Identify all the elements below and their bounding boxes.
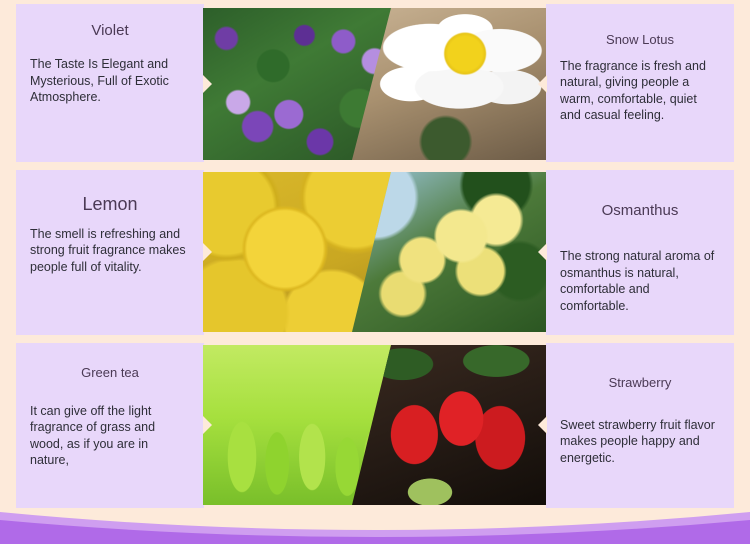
fragrance-feature-page: Violet The Taste Is Elegant and Mysterio…	[0, 0, 750, 544]
text-card-green-tea: Green tea It can give off the light frag…	[16, 343, 204, 508]
card-title: Strawberry	[560, 375, 720, 391]
card-title: Lemon	[30, 194, 190, 216]
text-card-strawberry: Strawberry Sweet strawberry fruit flavor…	[546, 343, 734, 508]
card-description: It can give off the light fragrance of g…	[30, 403, 190, 469]
curve-light-purple	[0, 512, 750, 544]
image-pair-row-3	[203, 345, 547, 505]
card-title: Osmanthus	[560, 202, 720, 220]
image-pair-row-2	[203, 172, 547, 332]
text-card-violet: Violet The Taste Is Elegant and Mysterio…	[16, 4, 204, 162]
card-description: The Taste Is Elegant and Mysterious, Ful…	[30, 56, 190, 106]
left-arrow-notch-icon	[203, 416, 212, 434]
text-card-snow-lotus: Snow Lotus The fragrance is fresh and na…	[546, 4, 734, 162]
card-description: The fragrance is fresh and natural, givi…	[560, 58, 720, 124]
card-title: Snow Lotus	[560, 32, 720, 48]
curve-purple	[0, 520, 750, 544]
feature-row-violet-snowlotus: Violet The Taste Is Elegant and Mysterio…	[0, 4, 750, 162]
right-arrow-notch-icon	[538, 416, 547, 434]
text-card-osmanthus: Osmanthus The strong natural aroma of os…	[546, 170, 734, 335]
feature-row-lemon-osmanthus: Lemon The smell is refreshing and strong…	[0, 170, 750, 335]
card-title: Violet	[30, 22, 190, 40]
image-pair-row-1	[203, 8, 547, 160]
text-card-lemon: Lemon The smell is refreshing and strong…	[16, 170, 204, 335]
right-arrow-notch-icon	[538, 243, 547, 261]
card-description: The strong natural aroma of osmanthus is…	[560, 248, 720, 314]
card-description: Sweet strawberry fruit flavor makes peop…	[560, 417, 720, 467]
feature-row-greentea-strawberry: Green tea It can give off the light frag…	[0, 343, 750, 508]
right-arrow-notch-icon	[538, 75, 547, 93]
left-arrow-notch-icon	[203, 243, 212, 261]
card-title: Green tea	[30, 365, 190, 381]
left-arrow-notch-icon	[203, 75, 212, 93]
card-description: The smell is refreshing and strong fruit…	[30, 226, 190, 276]
